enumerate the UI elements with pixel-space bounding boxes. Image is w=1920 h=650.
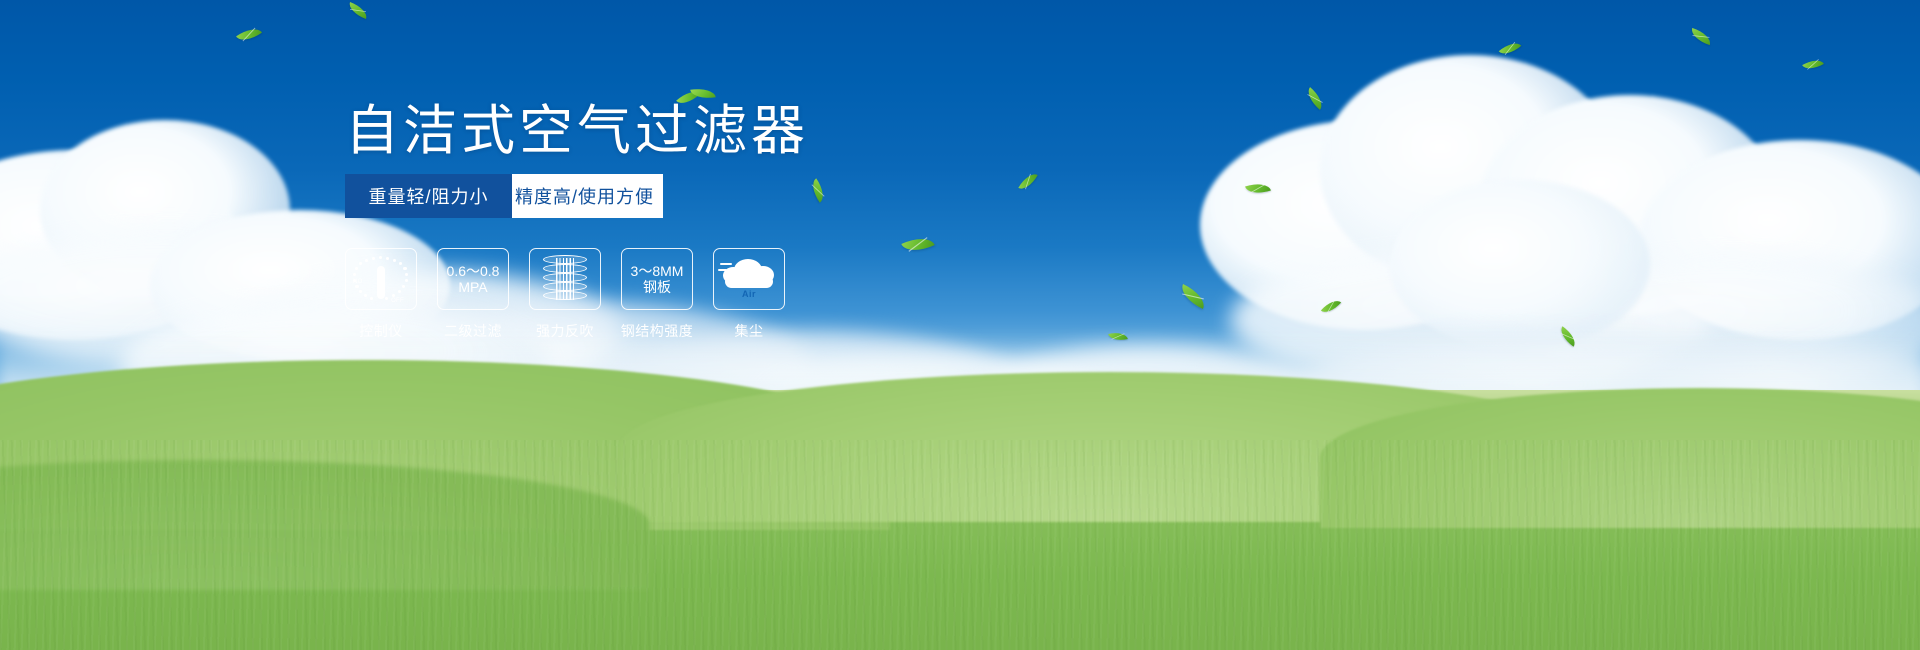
feature-icon-row: NO OFF 控制仪 0.6～0.8 MPA 二级过滤 xyxy=(345,248,1065,341)
feature-label: 控制仪 xyxy=(359,321,403,341)
grass-field xyxy=(0,390,1920,650)
thickness-range: 3～8MM xyxy=(631,263,684,279)
air-cloud-icon: Air xyxy=(722,257,776,301)
feature-item-controller: NO OFF 控制仪 xyxy=(345,248,417,341)
cloud-puff xyxy=(1390,180,1650,350)
feature-icon-box: NO OFF xyxy=(345,248,417,310)
thickness-material: 钢板 xyxy=(631,279,684,295)
pressure-range: 0.6～0.8 xyxy=(447,263,500,279)
feature-icon-box: 0.6～0.8 MPA xyxy=(437,248,509,310)
pressure-unit: MPA xyxy=(447,279,500,295)
filter-ring xyxy=(543,264,587,273)
feature-icon-box: 3～8MM 钢板 xyxy=(621,248,693,310)
feature-icon-box xyxy=(529,248,601,310)
air-swoosh xyxy=(720,263,732,265)
feature-badges: 重量轻/阻力小 精度高/使用方便 xyxy=(345,174,663,218)
title-leaf-icon xyxy=(677,82,721,112)
badge-weight-resistance: 重量轻/阻力小 xyxy=(345,174,512,218)
gauge-icon: NO OFF xyxy=(354,255,408,303)
grass-texture xyxy=(0,440,1920,650)
gauge-label-off: OFF xyxy=(391,298,404,304)
filter-ring xyxy=(543,273,587,282)
feature-label: 集尘 xyxy=(735,321,764,341)
feature-label: 强力反吹 xyxy=(536,321,594,341)
feature-label: 钢结构强度 xyxy=(621,321,694,341)
banner-content: 自洁式空气过滤器 重量轻/阻力小 精度高/使用方便 xyxy=(345,104,1065,341)
feature-item-dust: Air 集尘 xyxy=(713,248,785,341)
feature-item-steel: 3～8MM 钢板 钢结构强度 xyxy=(621,248,693,341)
feature-icon-box: Air xyxy=(713,248,785,310)
feature-item-backflush: 强力反吹 xyxy=(529,248,601,341)
page-title-text: 自洁式空气过滤器 xyxy=(345,101,809,161)
stacked-filter-icon xyxy=(543,255,587,303)
badge-precision-ease: 精度高/使用方便 xyxy=(494,174,663,218)
air-label: Air xyxy=(722,289,776,299)
gauge-label-no: NO xyxy=(353,279,363,285)
promo-banner: 自洁式空气过滤器 重量轻/阻力小 精度高/使用方便 xyxy=(0,0,1920,650)
gauge-needle xyxy=(377,266,385,299)
page-title: 自洁式空气过滤器 xyxy=(345,104,809,158)
filter-ring xyxy=(543,291,587,300)
feature-label: 二级过滤 xyxy=(444,321,502,341)
thickness-text-icon: 3～8MM 钢板 xyxy=(631,263,684,295)
filter-ring xyxy=(543,255,587,264)
cloud-base xyxy=(725,275,773,288)
feature-item-pressure: 0.6～0.8 MPA 二级过滤 xyxy=(437,248,509,341)
filter-ring xyxy=(543,282,587,291)
pressure-text-icon: 0.6～0.8 MPA xyxy=(447,263,500,295)
